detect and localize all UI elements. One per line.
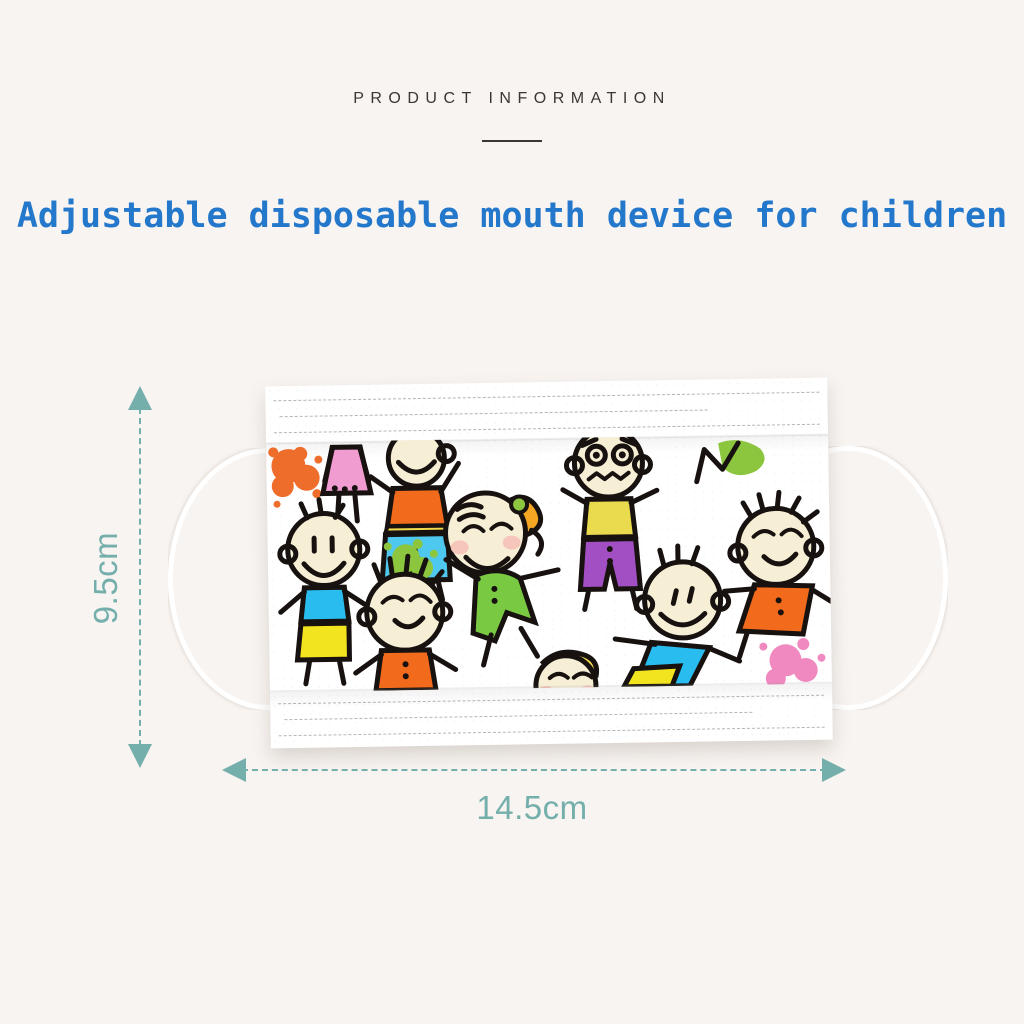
height-dimension-label: 9.5cm <box>87 532 125 624</box>
mask-print-area: .ln{fill:none;stroke:#17120f;stroke-widt… <box>266 434 832 693</box>
mask-body: .ln{fill:none;stroke:#17120f;stroke-widt… <box>265 378 833 749</box>
arrow-right-icon <box>822 758 846 782</box>
smiling-boy-blue-yellow <box>279 499 370 684</box>
orange-paint-splatter <box>268 447 323 508</box>
spiky-hair-boy-center <box>354 555 456 691</box>
height-dimension-guide <box>139 386 141 768</box>
green-dress-girl-ponytail <box>445 492 560 666</box>
face-mask-product: .ln{fill:none;stroke:#17120f;stroke-widt… <box>265 378 833 749</box>
height-dimension-line <box>139 408 141 746</box>
product-stage: .ln{fill:none;stroke:#17120f;stroke-widt… <box>0 0 1024 1024</box>
cartoon-children-print: .ln{fill:none;stroke:#17120f;stroke-widt… <box>266 434 832 693</box>
width-dimension-guide <box>222 769 846 771</box>
arrow-left-icon <box>222 758 246 782</box>
green-splatter-arm <box>696 440 765 482</box>
width-dimension-line <box>242 769 826 771</box>
arrow-up-icon <box>128 386 152 410</box>
product-information-page: PRODUCT INFORMATION Adjustable disposabl… <box>0 0 1024 1024</box>
width-dimension-label: 14.5cm <box>476 789 587 827</box>
pink-dress-girl <box>322 447 371 522</box>
grumpy-face-boy <box>562 434 659 610</box>
spiky-hair-boy-orange <box>723 492 832 658</box>
arrow-down-icon <box>128 744 152 768</box>
